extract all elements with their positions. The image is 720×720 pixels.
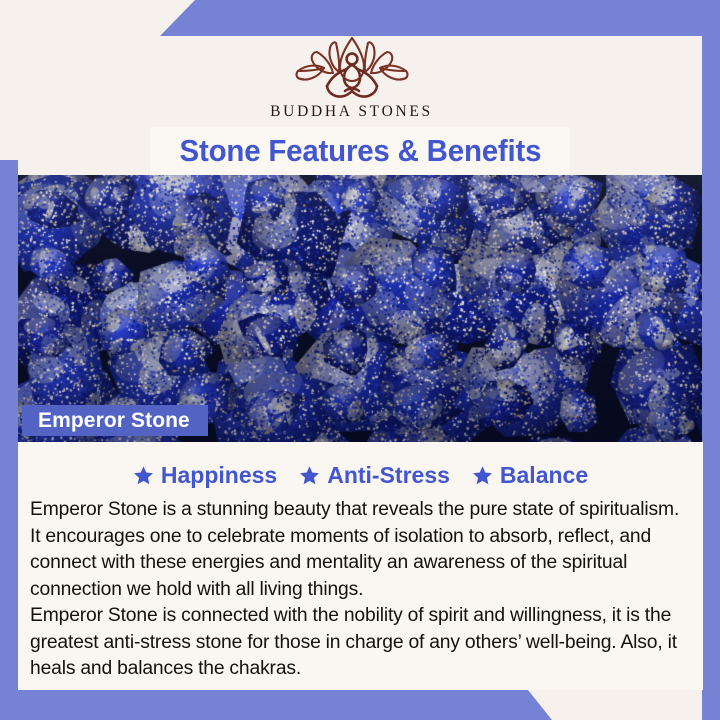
body-copy: Emperor Stone is a stunning beauty that … [18, 497, 703, 683]
benefit-label: Anti-Stress [327, 462, 450, 489]
frame-border-left [0, 160, 18, 720]
description-panel: Happiness Anti-Stress Balance [18, 442, 703, 690]
description-paragraph-2: Emperor Stone is connected with the nobi… [30, 603, 693, 683]
frame-border-bottom [0, 690, 720, 720]
benefit-item-anti-stress: Anti-Stress [299, 462, 450, 489]
frame-border-top [0, 0, 720, 36]
stone-name-label: Emperor Stone [38, 409, 190, 433]
page-title: Stone Features & Benefits [179, 133, 541, 169]
benefit-label: Balance [500, 462, 588, 489]
brand-block: BUDDHA STONES [0, 36, 703, 128]
star-icon [299, 465, 320, 486]
stone-name-badge: Emperor Stone [22, 405, 208, 436]
headline-banner: Stone Features & Benefits [150, 127, 570, 175]
frame-border-right [702, 0, 720, 720]
poster-root: Emperor Stone [0, 0, 720, 720]
star-icon [472, 465, 493, 486]
hero-stone-photo [0, 175, 703, 442]
lapis-lazuli-image [0, 175, 703, 442]
benefit-label: Happiness [161, 462, 277, 489]
description-paragraph-1: Emperor Stone is a stunning beauty that … [30, 497, 693, 603]
lotus-meditation-figure-icon [286, 34, 418, 102]
benefit-item-balance: Balance [472, 462, 588, 489]
brand-name: BUDDHA STONES [270, 103, 433, 121]
star-icon [133, 465, 154, 486]
benefit-item-happiness: Happiness [133, 462, 277, 489]
benefits-row: Happiness Anti-Stress Balance [18, 462, 703, 489]
